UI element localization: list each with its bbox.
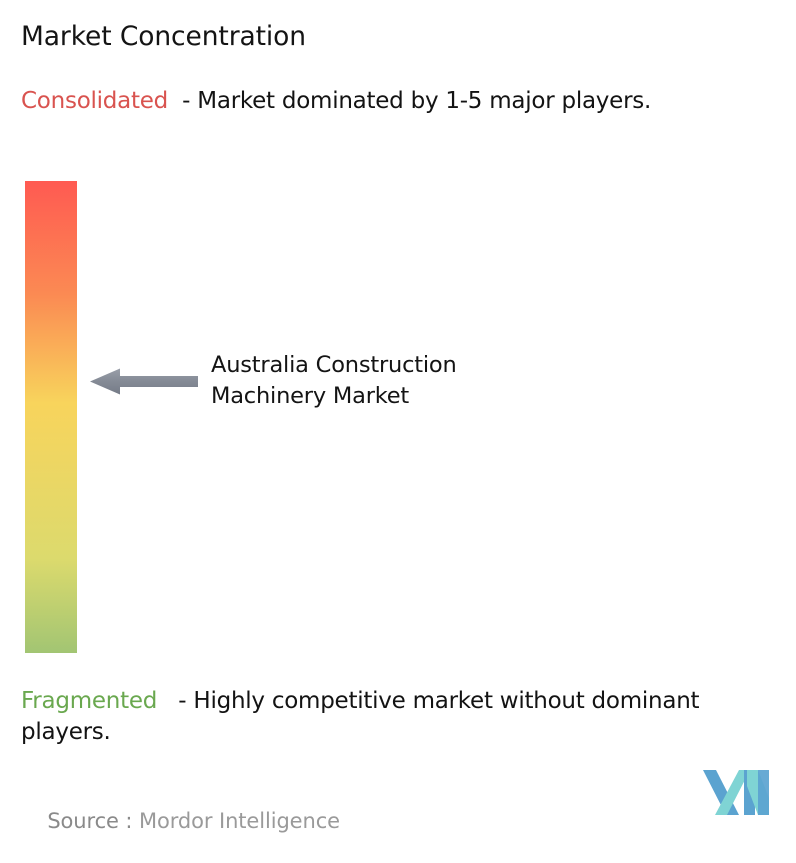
callout-label: Australia Construction Machinery Market: [211, 350, 591, 412]
source-name: Mordor Intelligence: [139, 809, 340, 833]
legend-separator-top: -: [168, 88, 197, 114]
callout-label-line1: Australia Construction: [211, 350, 591, 381]
legend-key-fragmented: Fragmented: [21, 688, 157, 714]
source-label: Source :: [47, 809, 139, 833]
legend-key-consolidated: Consolidated: [21, 88, 168, 114]
mordor-intelligence-logo-icon: [703, 770, 769, 815]
page-title: Market Concentration: [21, 20, 306, 54]
legend-fragmented: Fragmented - Highly competitive market w…: [21, 686, 785, 748]
legend-separator-bottom: -: [157, 688, 193, 714]
callout-label-line2: Machinery Market: [211, 381, 591, 412]
legend-description-consolidated: Market dominated by 1-5 major players.: [197, 88, 651, 114]
source-attribution: Source : Mordor Intelligence: [21, 779, 340, 863]
concentration-gradient-bar: [25, 181, 77, 653]
market-concentration-chart: Market Concentration Consolidated - Mark…: [0, 0, 796, 834]
legend-consolidated: Consolidated - Market dominated by 1-5 m…: [21, 86, 785, 117]
callout-arrow-icon: [90, 368, 198, 395]
